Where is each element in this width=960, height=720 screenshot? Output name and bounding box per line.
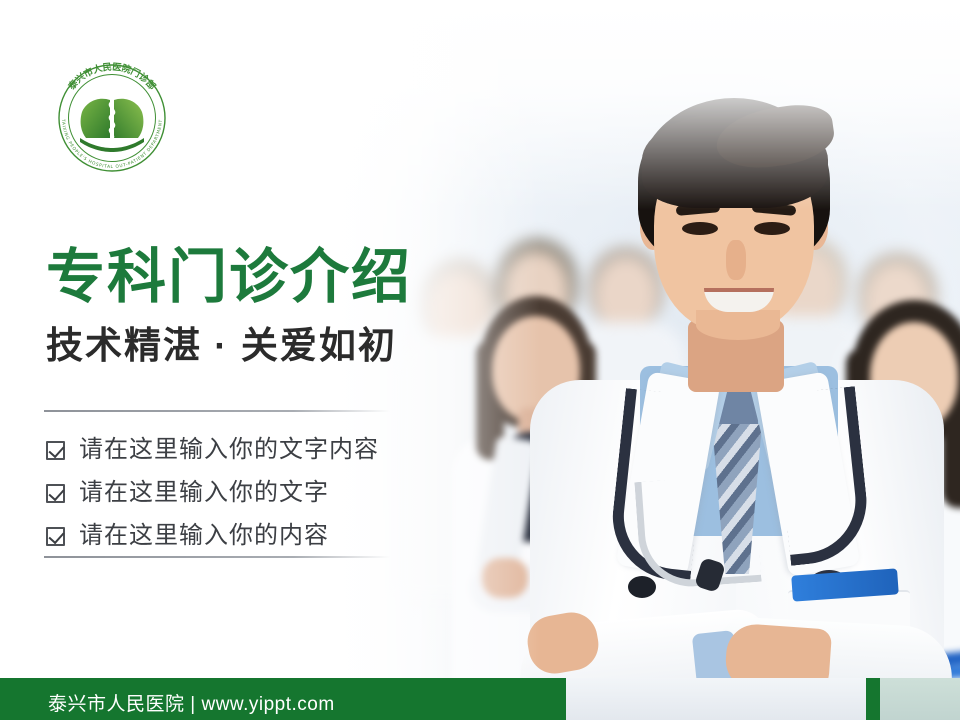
bullet-list: 请在这里输入你的文字内容 请在这里输入你的文字 请在这里输入你的内容 xyxy=(46,432,446,561)
divider-top xyxy=(44,410,390,412)
page-subtitle: 技术精湛 · 关爱如初 xyxy=(46,327,397,364)
list-item-label: 请在这里输入你的文字内容 xyxy=(79,438,379,462)
checked-box-icon xyxy=(46,527,65,546)
presentation-slide: 泰兴市人民医院门诊部 TAIXING PEOPLE'S HOSPITAL OUT… xyxy=(0,0,960,720)
list-item[interactable]: 请在这里输入你的文字 xyxy=(46,475,446,511)
slide-text-block: 专科门诊介绍 技术精湛 · 关爱如初 请在这里输入你的文字内容 请在这里输入你的… xyxy=(44,0,464,720)
nose xyxy=(726,240,746,280)
list-item[interactable]: 请在这里输入你的文字内容 xyxy=(46,432,446,468)
list-item[interactable]: 请在这里输入你的内容 xyxy=(46,518,446,554)
chin xyxy=(696,310,780,340)
stethoscope-earpiece xyxy=(628,576,656,598)
list-item-label: 请在这里输入你的文字 xyxy=(79,481,329,505)
divider-bottom xyxy=(44,556,390,558)
footer-coat-overlay xyxy=(880,678,960,720)
checked-box-icon xyxy=(46,484,65,503)
page-title: 专科门诊介绍 xyxy=(46,248,412,307)
footer-coat-overlay xyxy=(566,678,866,720)
eye xyxy=(754,222,790,235)
eye xyxy=(682,222,718,235)
checked-box-icon xyxy=(46,441,65,460)
list-item-label: 请在这里输入你的内容 xyxy=(79,524,329,548)
